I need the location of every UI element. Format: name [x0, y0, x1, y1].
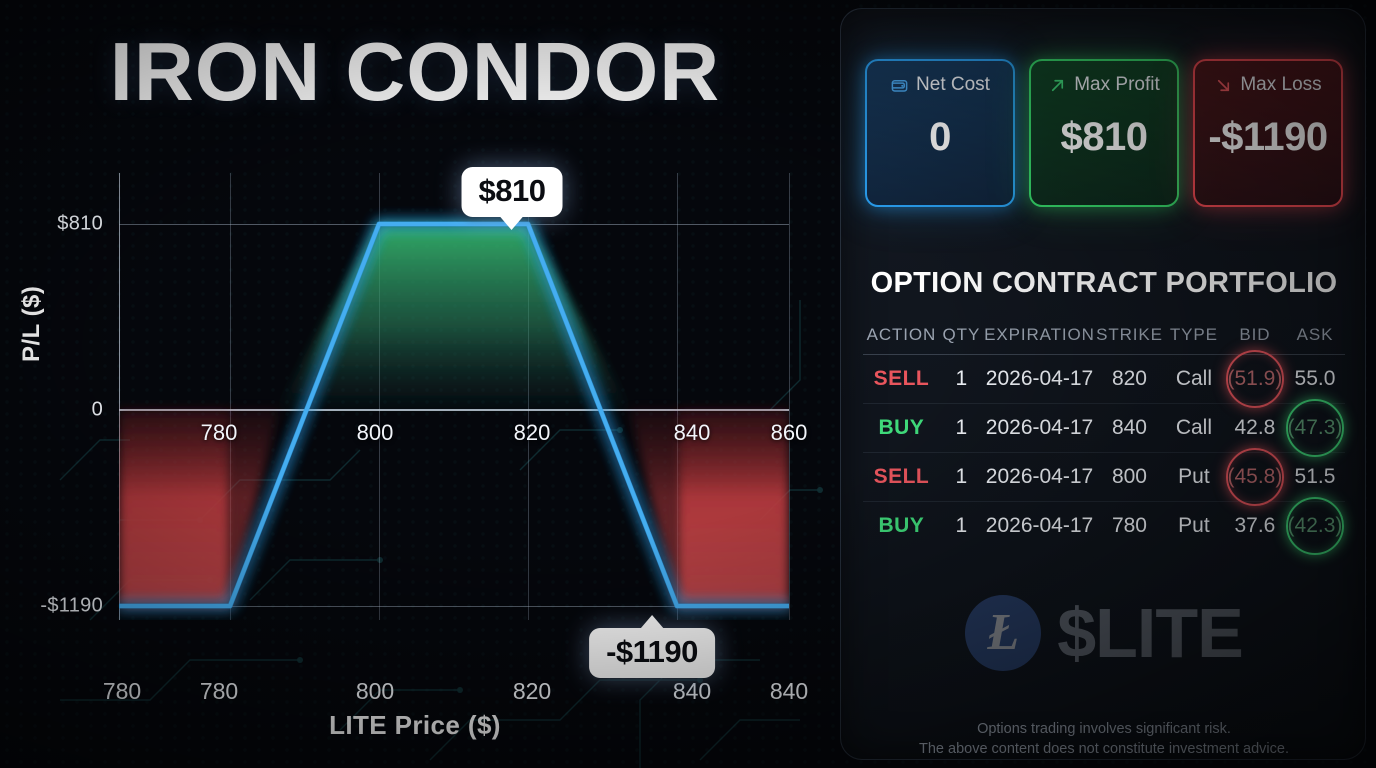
x-tick-label: 780: [103, 678, 141, 705]
metric-card-max-loss[interactable]: Max Loss -$1190: [1193, 59, 1343, 207]
portfolio-table: ACTION QTY EXPIRATION STRIKE TYPE BID AS…: [863, 325, 1345, 550]
x-tick-label: 820: [513, 678, 551, 705]
arrow-down-right-icon: [1214, 76, 1233, 95]
payoff-fill-layer: [119, 173, 789, 620]
cell-bid: (45.8): [1225, 453, 1285, 502]
metric-card-value: $810: [1031, 115, 1177, 160]
metric-card-label: Net Cost: [916, 74, 990, 96]
cell-bid: (51.9): [1225, 355, 1285, 404]
column-header-bid: BID: [1225, 325, 1285, 355]
x-tick-label: 800: [356, 678, 394, 705]
cell-qty: 1: [940, 404, 983, 453]
brand-watermark: Ł $LITE: [841, 595, 1366, 671]
x-tick-label: 780: [200, 678, 238, 705]
cell-ask: 55.0: [1285, 355, 1345, 404]
metric-card-header: Max Profit: [1048, 74, 1160, 96]
y-tick-label: 0: [0, 399, 103, 422]
max-profit-callout: $810: [462, 167, 563, 217]
max-loss-callout: -$1190: [589, 628, 715, 678]
highlighted-price: (47.3): [1288, 416, 1343, 440]
table-row[interactable]: SELL 1 2026-04-17 800 Put (45.8) 51.5: [863, 453, 1345, 502]
disclaimer: Options trading involves significant ris…: [841, 719, 1366, 759]
disclaimer-line-2: The above content does not constitute in…: [841, 739, 1366, 759]
cell-action: SELL: [863, 355, 940, 404]
column-header-qty: QTY: [940, 325, 983, 355]
metric-card-net-cost[interactable]: Net Cost 0: [865, 59, 1015, 207]
y-axis-label: P/L ($): [18, 286, 46, 362]
metric-card-value: -$1190: [1195, 115, 1341, 160]
column-header-type: TYPE: [1163, 325, 1225, 355]
metric-card-header: Max Loss: [1214, 74, 1321, 96]
cell-qty: 1: [940, 502, 983, 551]
payoff-chart: $810 0 -$1190 780 800 820 840 860 780 78…: [0, 165, 830, 725]
cell-ask: (42.3): [1285, 502, 1345, 551]
gridline-vertical: [789, 173, 790, 620]
y-tick-label: -$1190: [0, 595, 103, 618]
metric-cards: Net Cost 0 Max Profit $810 M: [865, 59, 1343, 207]
brand-name: $LITE: [1057, 598, 1243, 668]
table-header-row: ACTION QTY EXPIRATION STRIKE TYPE BID AS…: [863, 325, 1345, 355]
cell-expiration: 2026-04-17: [983, 355, 1096, 404]
x-tick-label-inner: 840: [674, 420, 711, 446]
cell-type: Put: [1163, 453, 1225, 502]
cell-action: BUY: [863, 502, 940, 551]
portfolio-title: OPTION CONTRACT PORTFOLIO: [841, 267, 1366, 300]
litecoin-logo-icon: Ł: [965, 595, 1041, 671]
arrow-up-right-icon: [1048, 76, 1067, 95]
x-tick-label-inner: 780: [201, 420, 238, 446]
metric-card-label: Max Loss: [1240, 74, 1321, 96]
cell-type: Call: [1163, 355, 1225, 404]
column-header-strike: STRIKE: [1096, 325, 1163, 355]
chart-pane: IRON CONDOR: [0, 0, 830, 768]
column-header-action: ACTION: [863, 325, 940, 355]
cell-qty: 1: [940, 453, 983, 502]
cell-action: SELL: [863, 453, 940, 502]
metric-card-value: 0: [867, 115, 1013, 160]
metric-card-header: Net Cost: [890, 74, 990, 96]
cell-ask: 51.5: [1285, 453, 1345, 502]
page-title: IRON CONDOR: [0, 30, 830, 113]
payoff-svg: [119, 173, 789, 620]
cell-bid: 42.8: [1225, 404, 1285, 453]
column-header-ask: ASK: [1285, 325, 1345, 355]
metric-card-label: Max Profit: [1074, 74, 1160, 96]
x-tick-label-inner: 860: [771, 420, 808, 446]
cell-ask: (47.3): [1285, 404, 1345, 453]
cell-strike: 840: [1096, 404, 1163, 453]
max-profit-callout-text: $810: [479, 173, 546, 208]
highlighted-price: (42.3): [1288, 514, 1343, 538]
cell-expiration: 2026-04-17: [983, 404, 1096, 453]
cell-action: BUY: [863, 404, 940, 453]
cell-type: Call: [1163, 404, 1225, 453]
max-loss-callout-text: -$1190: [606, 634, 698, 669]
screen-root: IRON CONDOR: [0, 0, 1376, 768]
wallet-icon: [890, 76, 909, 95]
table-row[interactable]: BUY 1 2026-04-17 840 Call 42.8 (47.3): [863, 404, 1345, 453]
info-panel: Net Cost 0 Max Profit $810 M: [840, 8, 1366, 760]
callout-pointer-icon: [640, 615, 664, 629]
cell-strike: 800: [1096, 453, 1163, 502]
highlighted-price: (51.9): [1228, 367, 1283, 391]
cell-strike: 780: [1096, 502, 1163, 551]
table-row[interactable]: BUY 1 2026-04-17 780 Put 37.6 (42.3): [863, 502, 1345, 551]
x-tick-label-inner: 820: [514, 420, 551, 446]
x-tick-label: 840: [673, 678, 711, 705]
callout-pointer-icon: [500, 216, 524, 230]
metric-card-max-profit[interactable]: Max Profit $810: [1029, 59, 1179, 207]
disclaimer-line-1: Options trading involves significant ris…: [841, 719, 1366, 739]
cell-qty: 1: [940, 355, 983, 404]
table-row[interactable]: SELL 1 2026-04-17 820 Call (51.9) 55.0: [863, 355, 1345, 404]
cell-expiration: 2026-04-17: [983, 453, 1096, 502]
brand-logo-glyph: Ł: [987, 607, 1019, 659]
x-axis-label: LITE Price ($): [0, 710, 830, 741]
x-tick-label: 840: [770, 678, 808, 705]
cell-expiration: 2026-04-17: [983, 502, 1096, 551]
highlighted-price: (45.8): [1228, 465, 1283, 489]
cell-bid: 37.6: [1225, 502, 1285, 551]
cell-type: Put: [1163, 502, 1225, 551]
column-header-expiration: EXPIRATION: [983, 325, 1096, 355]
x-tick-label-inner: 800: [357, 420, 394, 446]
cell-strike: 820: [1096, 355, 1163, 404]
y-tick-label: $810: [0, 213, 103, 236]
